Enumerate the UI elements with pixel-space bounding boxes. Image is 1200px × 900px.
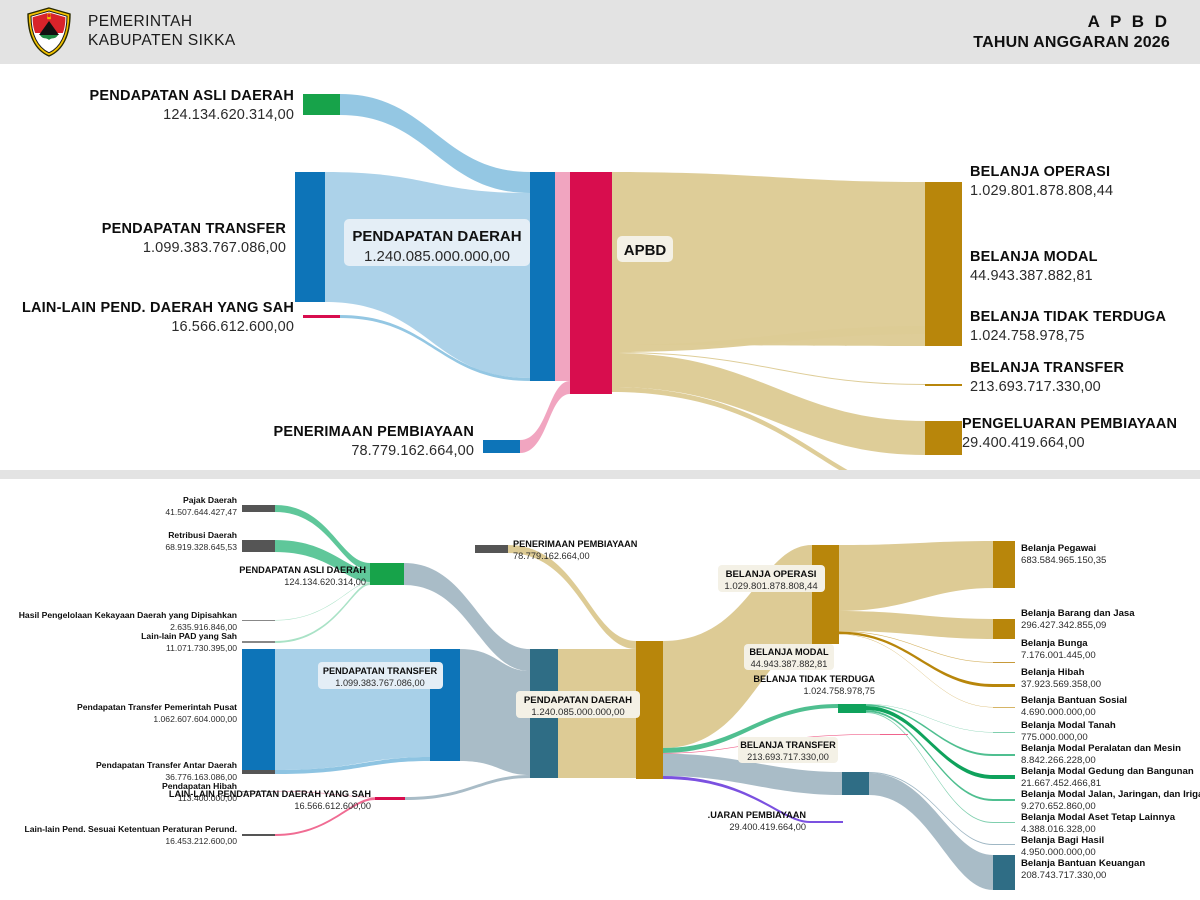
label-t-belanja-modal-jalan-value: 9.270.652.860,00 xyxy=(1021,801,1096,812)
header-left-group: PEMERINTAH KABUPATEN SIKKA xyxy=(0,7,236,57)
label-t-belanja-modal-gedung-name: Belanja Modal Gedung dan Bangunan xyxy=(1021,766,1194,777)
label-t-belanja-hibah-name: Belanja Hibah xyxy=(1021,667,1085,678)
node-apbd[interactable] xyxy=(570,172,612,394)
node-t-belanja-bagi-hasil[interactable] xyxy=(993,844,1015,845)
label-llpskp-value: 16.453.212.600,00 xyxy=(165,836,237,846)
label-b-transfer-value: 1.099.383.767.086,00 xyxy=(335,678,424,688)
bottom-right-labels: Belanja Pegawai 683.584.965.150,35 Belan… xyxy=(1021,543,1200,881)
label-t-belanja-bagi-hasil-name: Belanja Bagi Hasil xyxy=(1021,835,1104,846)
node-retribusi-daerah[interactable] xyxy=(242,540,275,552)
label-b-belanja-tidak-terduga-name: BELANJA TIDAK TERDUGA xyxy=(753,674,875,684)
link-hpkd-to-pad xyxy=(275,582,370,621)
bottom-sankey-chart: Pajak Daerah 41.507.644.427,47 Retribusi… xyxy=(0,479,1200,900)
label-b-belanja-transfer-name: BELANJA TRANSFER xyxy=(740,740,836,750)
label-pendapatan-daerah-value: 1.240.085.000.000,00 xyxy=(364,248,510,265)
node-penerimaan-pembiayaan[interactable] xyxy=(483,440,520,453)
label-t-belanja-modal-gedung-value: 21.667.452.466,81 xyxy=(1021,778,1101,789)
label-b-pengeluaran-pembiayaan-name: .UARAN PEMBIAYAAN xyxy=(708,810,807,820)
node-t-belanja-bantuan-keuangan[interactable] xyxy=(993,855,1015,890)
sikka-regency-crest-icon xyxy=(26,7,72,57)
label-t-belanja-modal-aset-lain-name: Belanja Modal Aset Tetap Lainnya xyxy=(1021,812,1176,823)
label-b-transfer-name: PENDAPATAN TRANSFER xyxy=(323,666,438,676)
node-b-belanja-tidak-terduga[interactable] xyxy=(880,734,908,735)
label-t-belanja-bantuan-sosial-value: 4.690.000.000,00 xyxy=(1021,707,1096,718)
label-t-belanja-bantuan-keuangan-value: 208.743.717.330,00 xyxy=(1021,870,1106,881)
label-b-pad-value: 124.134.620.314,00 xyxy=(284,577,366,587)
node-t-belanja-modal-aset-lain[interactable] xyxy=(993,822,1015,823)
node-belanja-transfer[interactable] xyxy=(925,421,962,455)
label-belanja-modal-value: 44.943.387.882,81 xyxy=(970,268,1093,284)
gov-line-1: PEMERINTAH xyxy=(88,13,236,32)
node-belanja-modal[interactable] xyxy=(925,326,962,334)
label-lain-lain-pendapatan-value: 16.566.612.600,00 xyxy=(171,319,294,335)
node-t-belanja-modal-tanah[interactable] xyxy=(993,732,1015,733)
label-t-belanja-bantuan-keuangan-name: Belanja Bantuan Keuangan xyxy=(1021,858,1145,869)
label-b-penerimaan-pembiayaan-name: PENERIMAAN PEMBIAYAAN xyxy=(513,539,638,549)
node-b-belanja-modal[interactable] xyxy=(838,704,866,713)
label-t-belanja-pegawai-name: Belanja Pegawai xyxy=(1021,543,1096,554)
label-pendapatan-asli-daerah-name: PENDAPATAN ASLI DAERAH xyxy=(90,88,294,104)
node-t-belanja-bantuan-sosial[interactable] xyxy=(993,707,1015,708)
node-t-belanja-modal-peralatan[interactable] xyxy=(993,754,1015,756)
label-pajak-daerah-value: 41.507.644.427,47 xyxy=(165,507,237,517)
label-b-belanja-tidak-terduga-value: 1.024.758.978,75 xyxy=(803,686,875,696)
label-transfer-pemerintah-pusat-value: 1.062.607.604.000,00 xyxy=(153,714,237,724)
node-b-apbd-hub[interactable] xyxy=(636,641,663,779)
node-belanja-operasi[interactable] xyxy=(925,182,962,346)
header-right-group: A P B D TAHUN ANGGARAN 2026 xyxy=(973,11,1200,52)
node-t-belanja-barang-jasa[interactable] xyxy=(993,619,1015,639)
node-hpkd[interactable] xyxy=(242,620,275,621)
label-b-pd-name: PENDAPATAN DAERAH xyxy=(524,695,632,706)
node-pendapatan-daerah[interactable] xyxy=(530,172,555,381)
label-belanja-tidak-terduga-name: BELANJA TIDAK TERDUGA xyxy=(970,309,1167,325)
label-b-llpd-name: LAIN-LAIN PENDAPATAN DAERAH YANG SAH xyxy=(169,789,371,799)
label-pendapatan-daerah-name: PENDAPATAN DAERAH xyxy=(352,228,521,245)
label-pendapatan-transfer-value: 1.099.383.767.086,00 xyxy=(143,240,286,256)
link-apbd-to-belanja-transfer xyxy=(612,353,925,455)
apbd-infographic-page: PEMERINTAH KABUPATEN SIKKA A P B D TAHUN… xyxy=(0,0,1200,900)
node-t-belanja-modal-jalan[interactable] xyxy=(993,799,1015,801)
bottom-sankey-panel: Pajak Daerah 41.507.644.427,47 Retribusi… xyxy=(0,479,1200,900)
label-apbd: APBD xyxy=(624,242,667,259)
label-transfer-pemerintah-pusat-name: Pendapatan Transfer Pemerintah Pusat xyxy=(77,702,237,712)
node-pendapatan-asli-daerah[interactable] xyxy=(303,94,340,115)
panel-divider xyxy=(0,470,1200,479)
label-b-pengeluaran-pembiayaan-value: 29.400.419.664,00 xyxy=(729,822,806,832)
label-llpskp-name: Lain-lain Pend. Sesuai Ketentuan Peratur… xyxy=(24,824,237,834)
label-t-belanja-pegawai-value: 683.584.965.150,35 xyxy=(1021,555,1106,566)
node-b-belanja-transfer[interactable] xyxy=(842,772,869,795)
label-t-belanja-modal-jalan-name: Belanja Modal Jalan, Jaringan, dan Iriga… xyxy=(1021,789,1200,800)
label-t-belanja-modal-tanah-name: Belanja Modal Tanah xyxy=(1021,720,1116,731)
node-lain-lain-pendapatan[interactable] xyxy=(303,315,340,318)
label-retribusi-daerah-name: Retribusi Daerah xyxy=(168,530,237,540)
node-transfer-pemerintah-pusat[interactable] xyxy=(242,649,275,770)
label-belanja-operasi-name: BELANJA OPERASI xyxy=(970,164,1110,180)
label-t-belanja-bagi-hasil-value: 4.950.000.000,00 xyxy=(1021,847,1096,858)
label-t-belanja-modal-peralatan-name: Belanja Modal Peralatan dan Mesin xyxy=(1021,743,1181,754)
label-belanja-operasi-value: 1.029.801.878.808,44 xyxy=(970,183,1113,199)
node-transfer-antar-daerah[interactable] xyxy=(242,770,275,774)
gov-line-2: KABUPATEN SIKKA xyxy=(88,32,236,51)
node-b-pendapatan-asli-daerah[interactable] xyxy=(370,563,404,585)
label-transfer-antar-daerah-name: Pendapatan Transfer Antar Daerah xyxy=(96,760,237,770)
link-modal-to-tanah xyxy=(866,704,993,732)
government-title: PEMERINTAH KABUPATEN SIKKA xyxy=(88,13,236,51)
label-t-belanja-bunga-value: 7.176.001.445,00 xyxy=(1021,650,1096,661)
label-lain-lain-pad-name: Lain-lain PAD yang Sah xyxy=(141,631,237,641)
node-pajak-daerah[interactable] xyxy=(242,505,275,512)
link-llpad-to-pad xyxy=(275,583,370,643)
node-t-belanja-pegawai[interactable] xyxy=(993,541,1015,588)
node-lainlain-sesuai-ketentuan[interactable] xyxy=(242,834,275,836)
label-t-belanja-modal-tanah-value: 775.000.000,00 xyxy=(1021,732,1088,743)
label-pengeluaran-pembiayaan-name: PENGELUARAN PEMBIAYAAN xyxy=(962,416,1177,432)
link-penerimaan-pembiayaan-to-apbd xyxy=(520,381,570,453)
label-pendapatan-asli-daerah-value: 124.134.620.314,00 xyxy=(163,107,294,123)
node-t-belanja-bunga[interactable] xyxy=(993,662,1015,663)
label-t-belanja-bunga-name: Belanja Bunga xyxy=(1021,638,1088,649)
link-transfer-to-bantuan-keuangan xyxy=(869,773,993,890)
label-belanja-tidak-terduga-value: 1.024.758.978,75 xyxy=(970,328,1085,344)
label-penerimaan-pembiayaan-name: PENERIMAAN PEMBIAYAAN xyxy=(273,424,474,440)
label-belanja-modal-name: BELANJA MODAL xyxy=(970,249,1098,265)
label-t-belanja-bantuan-sosial-name: Belanja Bantuan Sosial xyxy=(1021,695,1127,706)
label-b-belanja-modal-value: 44.943.387.882,81 xyxy=(751,659,828,669)
label-b-belanja-operasi-name: BELANJA OPERASI xyxy=(726,569,817,580)
label-b-penerimaan-pembiayaan-value: 78.779.162.664,00 xyxy=(513,551,590,561)
bottom-links-pad xyxy=(275,505,530,671)
link-pendapatan-daerah-to-apbd xyxy=(555,172,570,381)
label-penerimaan-pembiayaan-value: 78.779.162.664,00 xyxy=(351,443,474,459)
label-t-belanja-hibah-value: 37.923.569.358,00 xyxy=(1021,679,1101,690)
label-t-belanja-barang-jasa-value: 296.427.342.855,09 xyxy=(1021,620,1106,631)
node-belanja-tidak-terduga[interactable] xyxy=(925,384,962,386)
page-header: PEMERINTAH KABUPATEN SIKKA A P B D TAHUN… xyxy=(0,0,1200,64)
node-pendapatan-transfer[interactable] xyxy=(295,172,325,302)
label-belanja-transfer-name: BELANJA TRANSFER xyxy=(970,360,1124,376)
label-lain-lain-pad-value: 11.071.730.395,00 xyxy=(166,643,237,653)
label-b-belanja-transfer-value: 213.693.717.330,00 xyxy=(747,752,829,762)
label-t-belanja-modal-aset-lain-value: 4.388.016.328,00 xyxy=(1021,824,1096,835)
top-sankey-chart: PENDAPATAN ASLI DAERAH 124.134.620.314,0… xyxy=(0,64,1200,470)
label-t-belanja-modal-peralatan-value: 8.842.266.228,00 xyxy=(1021,755,1096,766)
label-pajak-daerah-name: Pajak Daerah xyxy=(183,495,237,505)
node-lain-lain-pad[interactable] xyxy=(242,641,275,643)
label-retribusi-daerah-value: 68.919.328.645,53 xyxy=(165,542,237,552)
node-b-belanja-operasi[interactable] xyxy=(812,545,839,644)
link-transfer-to-pendapatan-daerah xyxy=(325,172,530,378)
node-t-belanja-modal-gedung[interactable] xyxy=(993,775,1015,779)
link-operasi-to-bansos xyxy=(839,634,993,707)
link-operasi-to-pegawai xyxy=(839,541,993,611)
label-b-belanja-modal-name: BELANJA MODAL xyxy=(749,647,829,657)
label-b-pd-value: 1.240.085.000.000,00 xyxy=(531,707,624,718)
label-pengeluaran-pembiayaan-value: 29.400.419.664,00 xyxy=(962,435,1085,451)
node-b-lain-lain-pendapatan[interactable] xyxy=(375,797,405,800)
label-b-pad-name: PENDAPATAN ASLI DAERAH xyxy=(239,565,366,575)
label-b-belanja-operasi-value: 1.029.801.878.808,44 xyxy=(724,581,818,592)
label-hpkd-name: Hasil Pengelolaan Kekayaan Daerah yang D… xyxy=(19,610,237,620)
node-b-pengeluaran-pembiayaan[interactable] xyxy=(810,821,843,823)
label-t-belanja-barang-jasa-name: Belanja Barang dan Jasa xyxy=(1021,608,1135,619)
link-llpd-to-pd-b xyxy=(405,775,530,800)
apbd-title: A P B D xyxy=(973,11,1170,32)
node-b-penerimaan-pembiayaan[interactable] xyxy=(475,545,508,553)
bottom-links-targets xyxy=(839,541,993,890)
node-t-belanja-hibah[interactable] xyxy=(993,684,1015,687)
top-sankey-panel: PENDAPATAN ASLI DAERAH 124.134.620.314,0… xyxy=(0,64,1200,470)
apbd-fiscal-year: TAHUN ANGGARAN 2026 xyxy=(973,33,1170,53)
label-belanja-transfer-value: 213.693.717.330,00 xyxy=(970,379,1101,395)
label-b-llpd-value: 16.566.612.600,00 xyxy=(294,801,371,811)
label-lain-lain-pendapatan-name: LAIN-LAIN PEND. DAERAH YANG SAH xyxy=(22,300,294,316)
label-pendapatan-transfer-name: PENDAPATAN TRANSFER xyxy=(102,221,287,237)
